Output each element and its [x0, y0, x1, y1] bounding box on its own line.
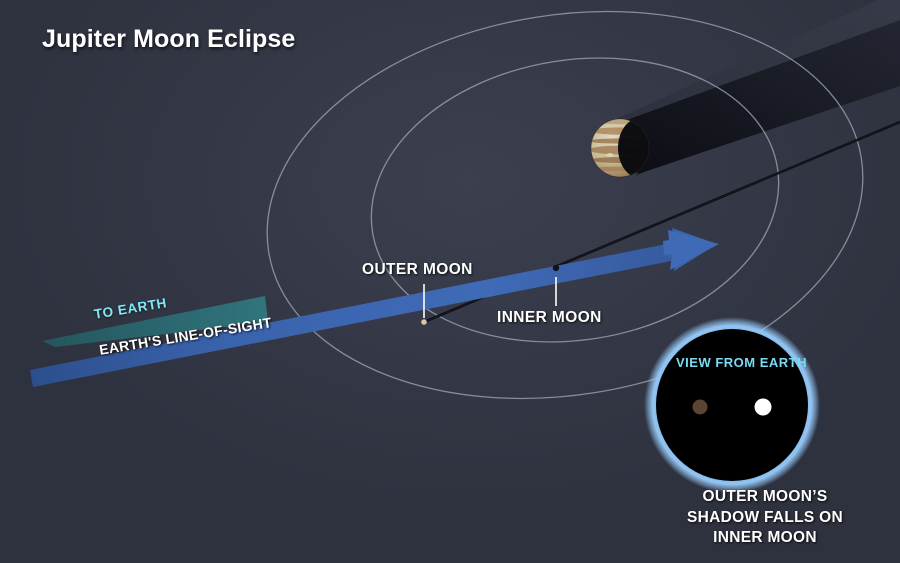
lit-inner-moon [755, 399, 772, 416]
earths-line-of-sight-beam [30, 228, 719, 387]
outer-moon-marker [421, 319, 427, 325]
diagram-canvas: Jupiter Moon Eclipse OUTER MOON INNER MO… [0, 0, 900, 563]
scene-graphics [0, 0, 900, 563]
inner-moon-marker [553, 265, 559, 271]
view-from-earth-inset [644, 317, 820, 493]
jupiter-shadow-cone [614, 0, 900, 176]
eclipsed-outer-moon [693, 400, 708, 415]
